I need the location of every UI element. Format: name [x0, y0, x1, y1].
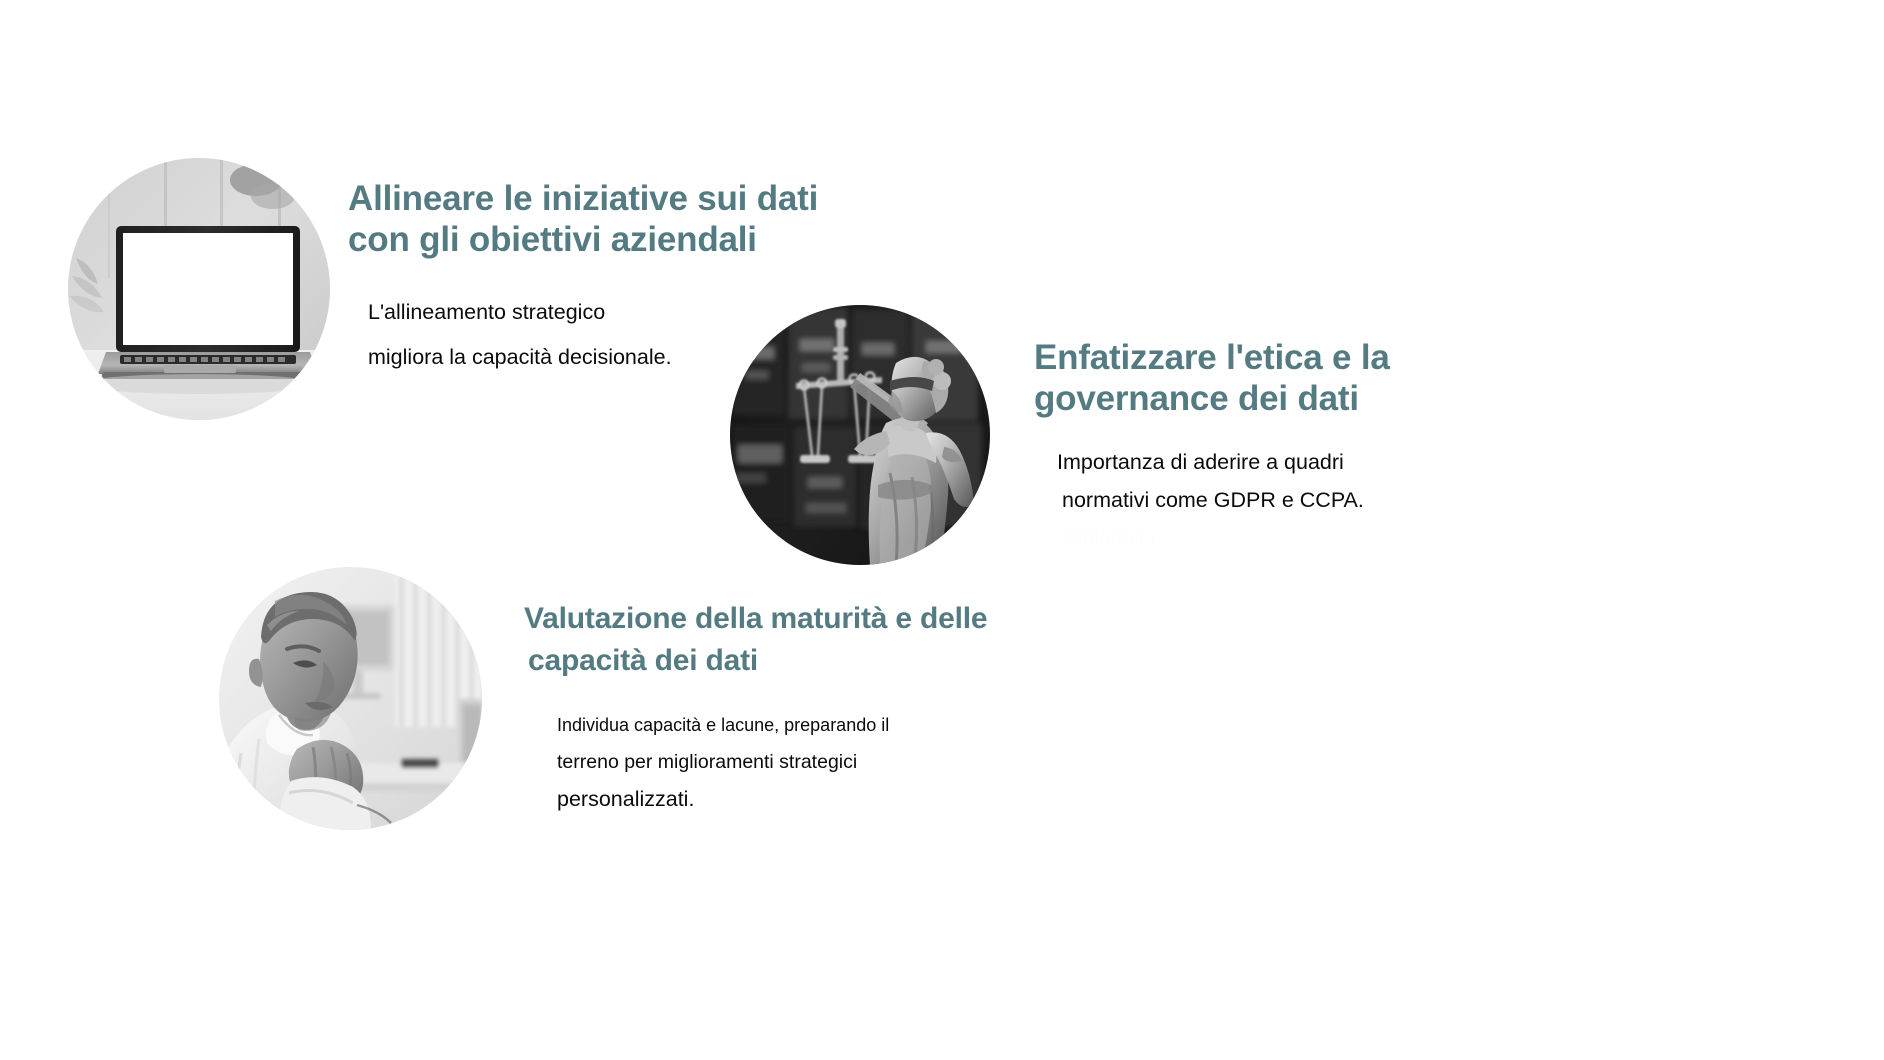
section-3-heading-line-1: Valutazione della maturità e delle [524, 598, 987, 640]
section-1-heading: Allineare le iniziative sui dati con gli… [348, 178, 818, 260]
section-2-body-line-3: conformità. [1057, 519, 1364, 557]
section-2-body-line-2: normativi come GDPR e CCPA. [1057, 481, 1364, 519]
laptop-on-desk-photo [68, 158, 330, 420]
section-2-body-line-1: Importanza di aderire a quadri [1057, 443, 1364, 481]
section-2-heading-line-2: governance dei dati [1034, 378, 1390, 419]
section-3-body: Individua capacità e lacune, preparando … [557, 707, 889, 818]
infographic-slide: Allineare le iniziative sui dati con gli… [0, 0, 1884, 1060]
section-1-heading-line-2: con gli obiettivi aziendali [348, 219, 818, 260]
section-3-body-line-2: terreno per miglioramenti strategici [557, 744, 889, 781]
section-1-body-line-1: L'allineamento strategico [368, 290, 672, 335]
section-2-heading: Enfatizzare l'etica e la governance dei … [1034, 337, 1390, 419]
section-3-body-line-3: personalizzati. [557, 781, 889, 818]
section-3-body-line-1: Individua capacità e lacune, preparando … [557, 707, 889, 744]
section-3-heading-line-2: capacità dei dati [524, 640, 987, 682]
section-3-heading: Valutazione della maturità e delle capac… [524, 598, 987, 682]
lady-justice-statue-photo [730, 305, 990, 565]
section-1-body-line-2: migliora la capacità decisionale. [368, 335, 672, 380]
section-2-heading-line-1: Enfatizzare l'etica e la [1034, 337, 1390, 378]
section-1-heading-line-1: Allineare le iniziative sui dati [348, 178, 818, 219]
section-2-body: Importanza di aderire a quadri normativi… [1057, 443, 1364, 557]
businessman-thinking-at-desk-photo [219, 567, 482, 830]
section-1-body: L'allineamento strategico migliora la ca… [368, 290, 672, 380]
